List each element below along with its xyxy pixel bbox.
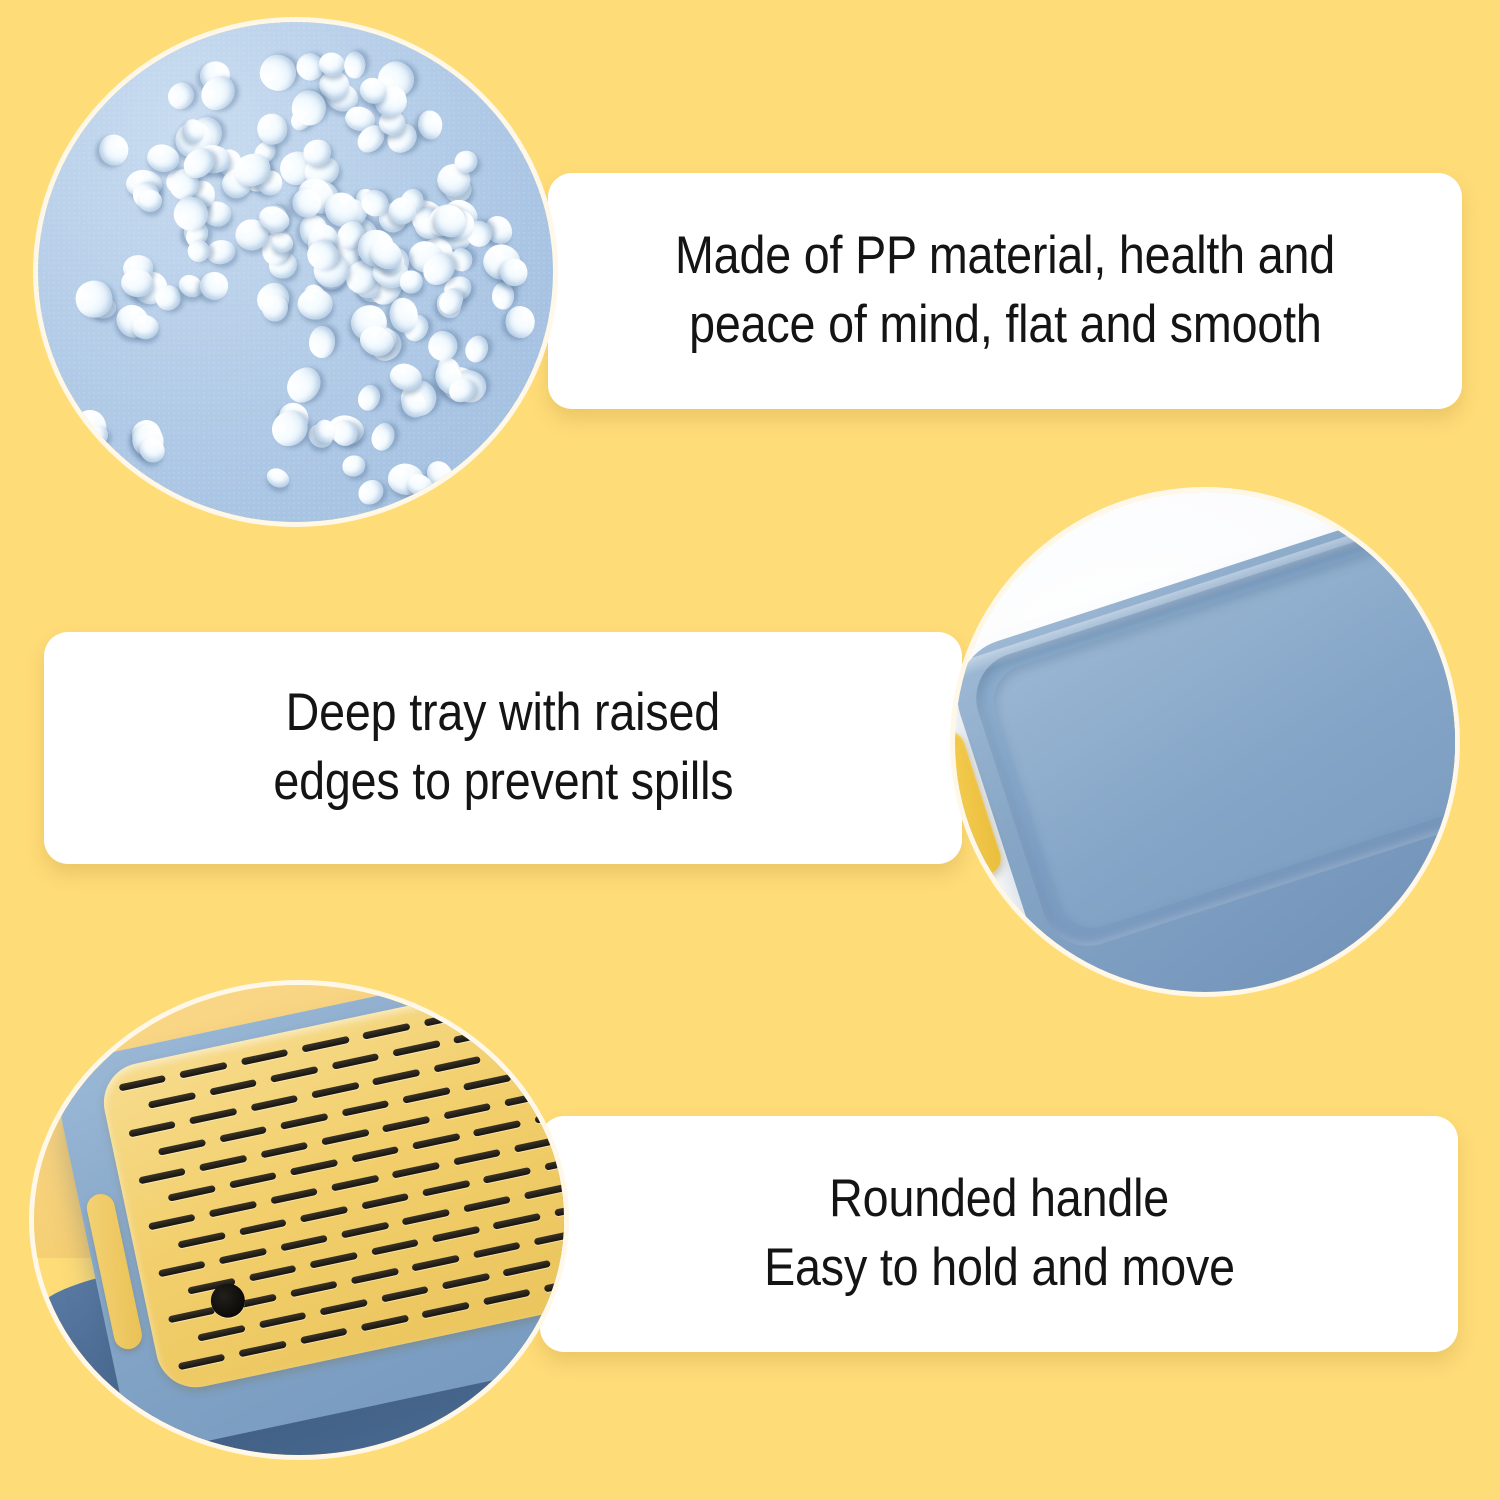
drain-slot xyxy=(372,1069,420,1086)
pp-pellets-photo xyxy=(38,22,553,522)
infographic-stage: Made of PP material, health and peace of… xyxy=(0,0,1500,1500)
drain-slot xyxy=(483,1167,531,1184)
pp-pellet xyxy=(69,273,120,324)
drain-slot xyxy=(534,1229,564,1246)
drain-slot xyxy=(300,1206,348,1223)
drain-slot xyxy=(198,1325,246,1342)
drain-slot xyxy=(199,1154,247,1171)
drain-slot xyxy=(250,1095,298,1112)
pp-pellet xyxy=(355,382,384,414)
drain-slot xyxy=(148,1214,196,1231)
pp-pellet xyxy=(344,51,366,79)
drain-slot xyxy=(392,1162,440,1179)
drain-slot xyxy=(424,1009,472,1026)
drain-slot xyxy=(270,1188,318,1205)
drain-slot xyxy=(240,1048,288,1065)
drain-slot xyxy=(432,1226,480,1243)
drain-slot xyxy=(534,1107,564,1124)
drain-slot xyxy=(422,1180,470,1197)
drain-slot xyxy=(362,1022,410,1039)
drain-slot xyxy=(209,1079,257,1096)
drain-slot xyxy=(280,1234,328,1251)
drain-slot xyxy=(321,1128,369,1145)
drain-slot xyxy=(341,1100,389,1117)
pp-pellet xyxy=(417,109,444,140)
drain-slot xyxy=(361,1314,409,1331)
drain-slot xyxy=(381,1286,429,1303)
pp-pellet xyxy=(280,361,327,409)
pp-pellet xyxy=(399,270,423,294)
drain-slot xyxy=(259,1312,307,1329)
drain-slot xyxy=(209,1201,257,1218)
drain-slot xyxy=(168,1185,216,1202)
card-handle-line-2: Easy to hold and move xyxy=(764,1234,1235,1303)
pp-pellet xyxy=(265,403,315,453)
drain-slot xyxy=(238,1340,286,1357)
drain-slot xyxy=(361,1193,409,1210)
drain-slot xyxy=(454,1027,502,1044)
drain-slot xyxy=(148,1092,196,1109)
drain-slot xyxy=(311,1082,359,1099)
drain-slot xyxy=(280,1113,328,1130)
drain-slot xyxy=(443,1102,491,1119)
drain-slot xyxy=(504,1089,552,1106)
drain-slot xyxy=(239,1219,287,1236)
pp-pellet xyxy=(263,465,292,492)
pp-pellet xyxy=(367,420,398,454)
feature-card-tray: Deep tray with raised edges to prevent s… xyxy=(44,632,962,864)
drain-slot xyxy=(412,1255,460,1272)
drain-slot xyxy=(473,1242,521,1259)
drain-slot xyxy=(485,996,533,1013)
drain-slot xyxy=(270,1066,318,1083)
pp-pellet xyxy=(254,110,291,148)
pp-pellet xyxy=(503,305,535,339)
drain-slot xyxy=(524,1182,564,1199)
pp-pellet xyxy=(353,475,388,509)
pp-pellet xyxy=(297,287,335,321)
drain-slot xyxy=(493,1213,541,1230)
drain-slot xyxy=(138,1167,186,1184)
drain-slot xyxy=(320,1299,368,1316)
drain-slot xyxy=(524,1061,564,1078)
card-tray-line-1: Deep tray with raised xyxy=(286,679,720,748)
drain-slot xyxy=(290,1281,338,1298)
drain-slot xyxy=(300,1327,348,1344)
drain-slot xyxy=(554,1200,564,1217)
drain-slot xyxy=(128,1121,176,1138)
drain-slot xyxy=(514,1136,562,1153)
drain-slot xyxy=(249,1265,297,1282)
drain-slot xyxy=(301,1035,349,1052)
drain-slot xyxy=(178,1232,226,1249)
drain-slot xyxy=(331,1175,379,1192)
drain-slot xyxy=(189,1108,237,1125)
drain-slot xyxy=(515,1014,563,1031)
drain-slot xyxy=(483,1288,531,1305)
drain-slot xyxy=(433,1056,481,1073)
drain-slot xyxy=(371,1239,419,1256)
pp-pellet xyxy=(99,133,130,166)
pp-pellet xyxy=(257,52,299,94)
drain-slot xyxy=(544,1275,564,1292)
drain-slot xyxy=(453,1149,501,1166)
drain-slot xyxy=(402,1087,450,1104)
drain-slot xyxy=(158,1260,206,1277)
feature-card-handle: Rounded handle Easy to hold and move xyxy=(540,1116,1458,1352)
drain-slot xyxy=(331,1053,379,1070)
drain-slot xyxy=(382,1115,430,1132)
drain-slot xyxy=(422,1301,470,1318)
drain-slot xyxy=(473,1120,521,1137)
pp-pellet xyxy=(137,189,163,214)
drain-slot xyxy=(544,1154,564,1171)
drain-slot-plate xyxy=(96,985,564,1395)
drain-slot xyxy=(412,1133,460,1150)
drain-slot xyxy=(219,1247,267,1264)
drain-slot xyxy=(260,1141,308,1158)
drain-slot xyxy=(351,1268,399,1285)
drain-slot xyxy=(442,1273,490,1290)
drain-slot xyxy=(463,1195,511,1212)
pellet-cluster xyxy=(38,22,553,522)
drain-slot xyxy=(158,1139,206,1156)
blue-tray-corner-photo xyxy=(955,492,1455,992)
card-material-line-1: Made of PP material, health and xyxy=(675,222,1335,291)
pp-pellet xyxy=(196,269,231,304)
drain-slot xyxy=(402,1208,450,1225)
feature-card-material: Made of PP material, health and peace of… xyxy=(548,173,1462,409)
pp-pellet xyxy=(163,78,199,114)
drain-slot xyxy=(310,1252,358,1269)
drain-slot xyxy=(168,1307,216,1324)
drain-slot xyxy=(177,1353,225,1370)
drain-slot xyxy=(341,1221,389,1238)
drain-slot xyxy=(179,1061,227,1078)
drain-slot xyxy=(392,1040,440,1057)
card-material-line-2: peace of mind, flat and smooth xyxy=(689,291,1322,360)
drain-slot xyxy=(290,1159,338,1176)
pp-pellet xyxy=(462,333,492,366)
drain-slot xyxy=(219,1126,267,1143)
pp-pellet xyxy=(340,453,368,479)
drain-plate-photo xyxy=(34,985,564,1455)
drain-slot xyxy=(229,1172,277,1189)
card-handle-line-1: Rounded handle xyxy=(829,1165,1169,1234)
drain-slot xyxy=(118,1074,166,1091)
drain-slot xyxy=(494,1043,542,1060)
drain-slot xyxy=(351,1146,399,1163)
drain-slot xyxy=(463,1074,511,1091)
pp-pellet xyxy=(425,328,460,363)
pp-pellet xyxy=(307,325,336,359)
card-tray-line-2: edges to prevent spills xyxy=(273,748,733,817)
drain-slot xyxy=(503,1260,551,1277)
